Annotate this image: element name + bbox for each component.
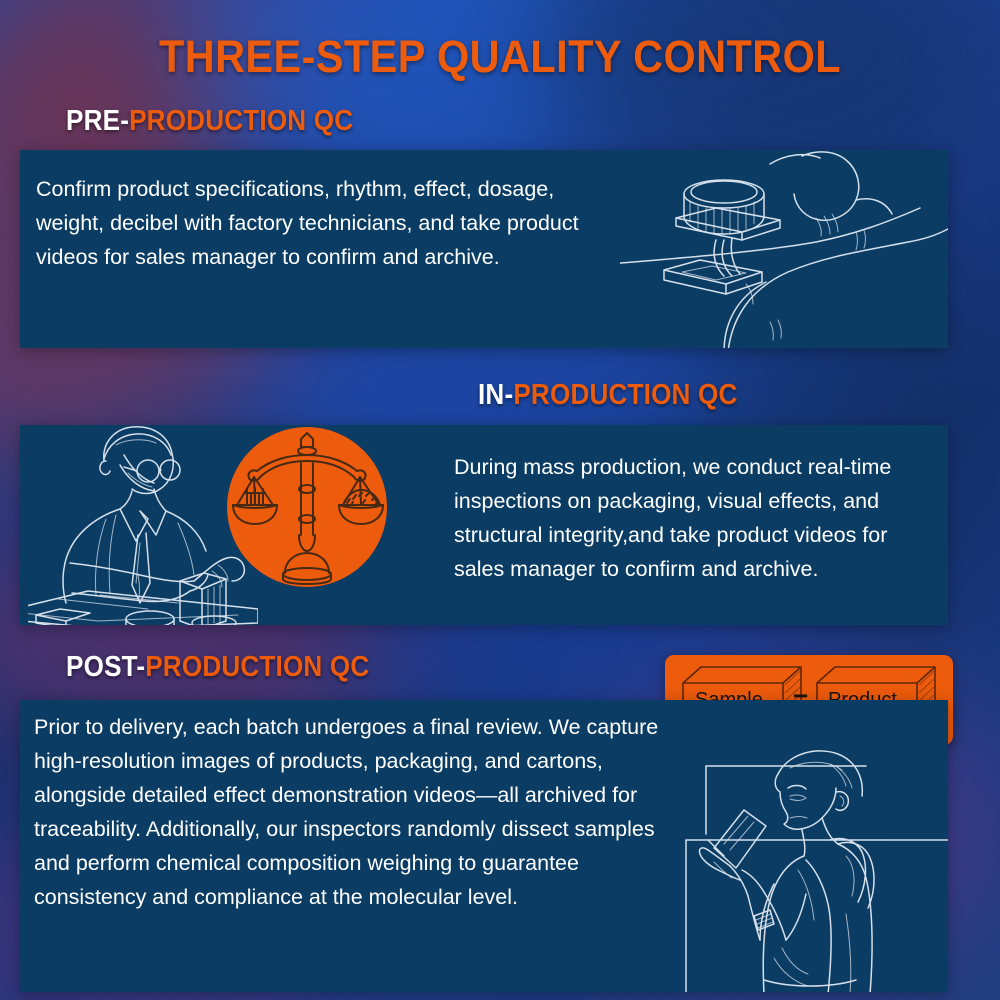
panel-pre-body-text: Confirm product specifications, rhythm, …: [36, 172, 616, 274]
panel-in-body-text: During mass production, we conduct real-…: [454, 450, 940, 586]
panel-post-body-text: Prior to delivery, each batch undergoes …: [34, 710, 674, 914]
page-title: THREE-STEP QUALITY CONTROL: [40, 32, 960, 82]
panel-post-production: Prior to delivery, each batch undergoes …: [20, 700, 948, 992]
section-heading-in-prefix: IN-: [478, 379, 513, 411]
balance-scale-icon: [227, 427, 387, 592]
section-heading-post-suffix: PRODUCTION QC: [145, 651, 369, 683]
section-heading-pre-suffix: PRODUCTION QC: [129, 105, 353, 137]
hand-holding-product-icon: [620, 150, 948, 348]
section-heading-pre: PRE-PRODUCTION QC: [66, 105, 353, 137]
section-heading-in-suffix: PRODUCTION QC: [513, 379, 737, 411]
section-heading-post-prefix: POST-: [66, 651, 145, 683]
person-inspecting-tablet-icon: [670, 744, 948, 992]
section-heading-in: IN-PRODUCTION QC: [478, 379, 738, 411]
balance-scale-badge: [227, 427, 387, 587]
panel-in-production: During mass production, we conduct real-…: [20, 425, 948, 625]
section-heading-pre-prefix: PRE-: [66, 105, 129, 137]
section-heading-post: POST-PRODUCTION QC: [66, 651, 369, 683]
panel-pre-production: Confirm product specifications, rhythm, …: [20, 150, 948, 348]
infographic-poster: THREE-STEP QUALITY CONTROL PRE-PRODUCTIO…: [0, 0, 1000, 1000]
inspector-at-workbench-icon: [28, 425, 258, 625]
